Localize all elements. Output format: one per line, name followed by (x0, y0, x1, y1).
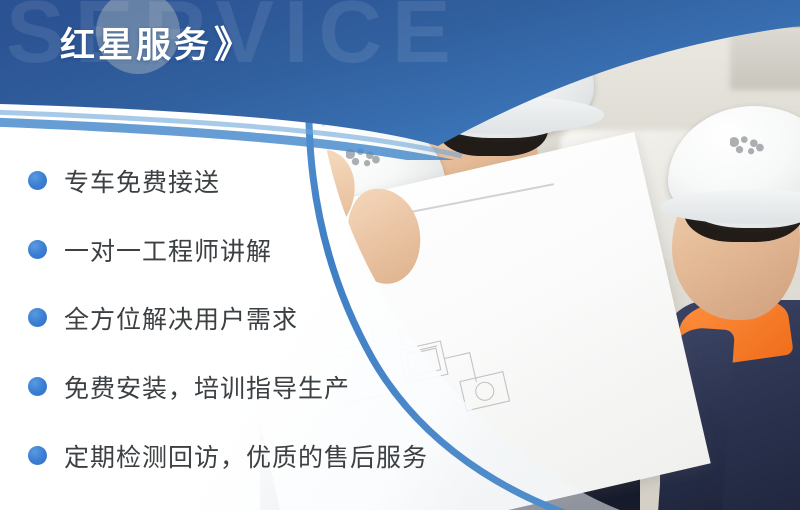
banner-title-text: 红星服务 (60, 26, 212, 65)
bullet-dot-icon (28, 308, 48, 328)
list-item-label: 定期检测回访，优质的售后服务 (64, 438, 428, 474)
bullet-dot-icon (28, 377, 48, 397)
bullet-dot-icon (28, 240, 48, 260)
banner-chevron-icon: 》 (214, 24, 251, 65)
list-item-label: 专车免费接送 (64, 163, 220, 199)
bullet-dot-icon (28, 446, 48, 466)
list-item-label: 一对一工程师讲解 (64, 232, 272, 268)
list-item[interactable]: 一对一工程师讲解 (28, 232, 272, 268)
banner-title: 红星服务》 (60, 14, 251, 68)
list-item-label: 免费安装，培训指导生产 (64, 369, 350, 405)
list-item[interactable]: 专车免费接送 (28, 163, 220, 199)
bullet-dot-icon (28, 171, 48, 191)
list-item[interactable]: 全方位解决用户需求 (28, 300, 298, 336)
list-item-label: 全方位解决用户需求 (64, 300, 298, 336)
list-item[interactable]: 定期检测回访，优质的售后服务 (28, 438, 428, 474)
service-banner: SERVICE 红星服务》 专车免费接送 一对一工程师讲解 全方位解决用户需求 … (0, 0, 800, 510)
list-item[interactable]: 免费安装，培训指导生产 (28, 369, 350, 405)
